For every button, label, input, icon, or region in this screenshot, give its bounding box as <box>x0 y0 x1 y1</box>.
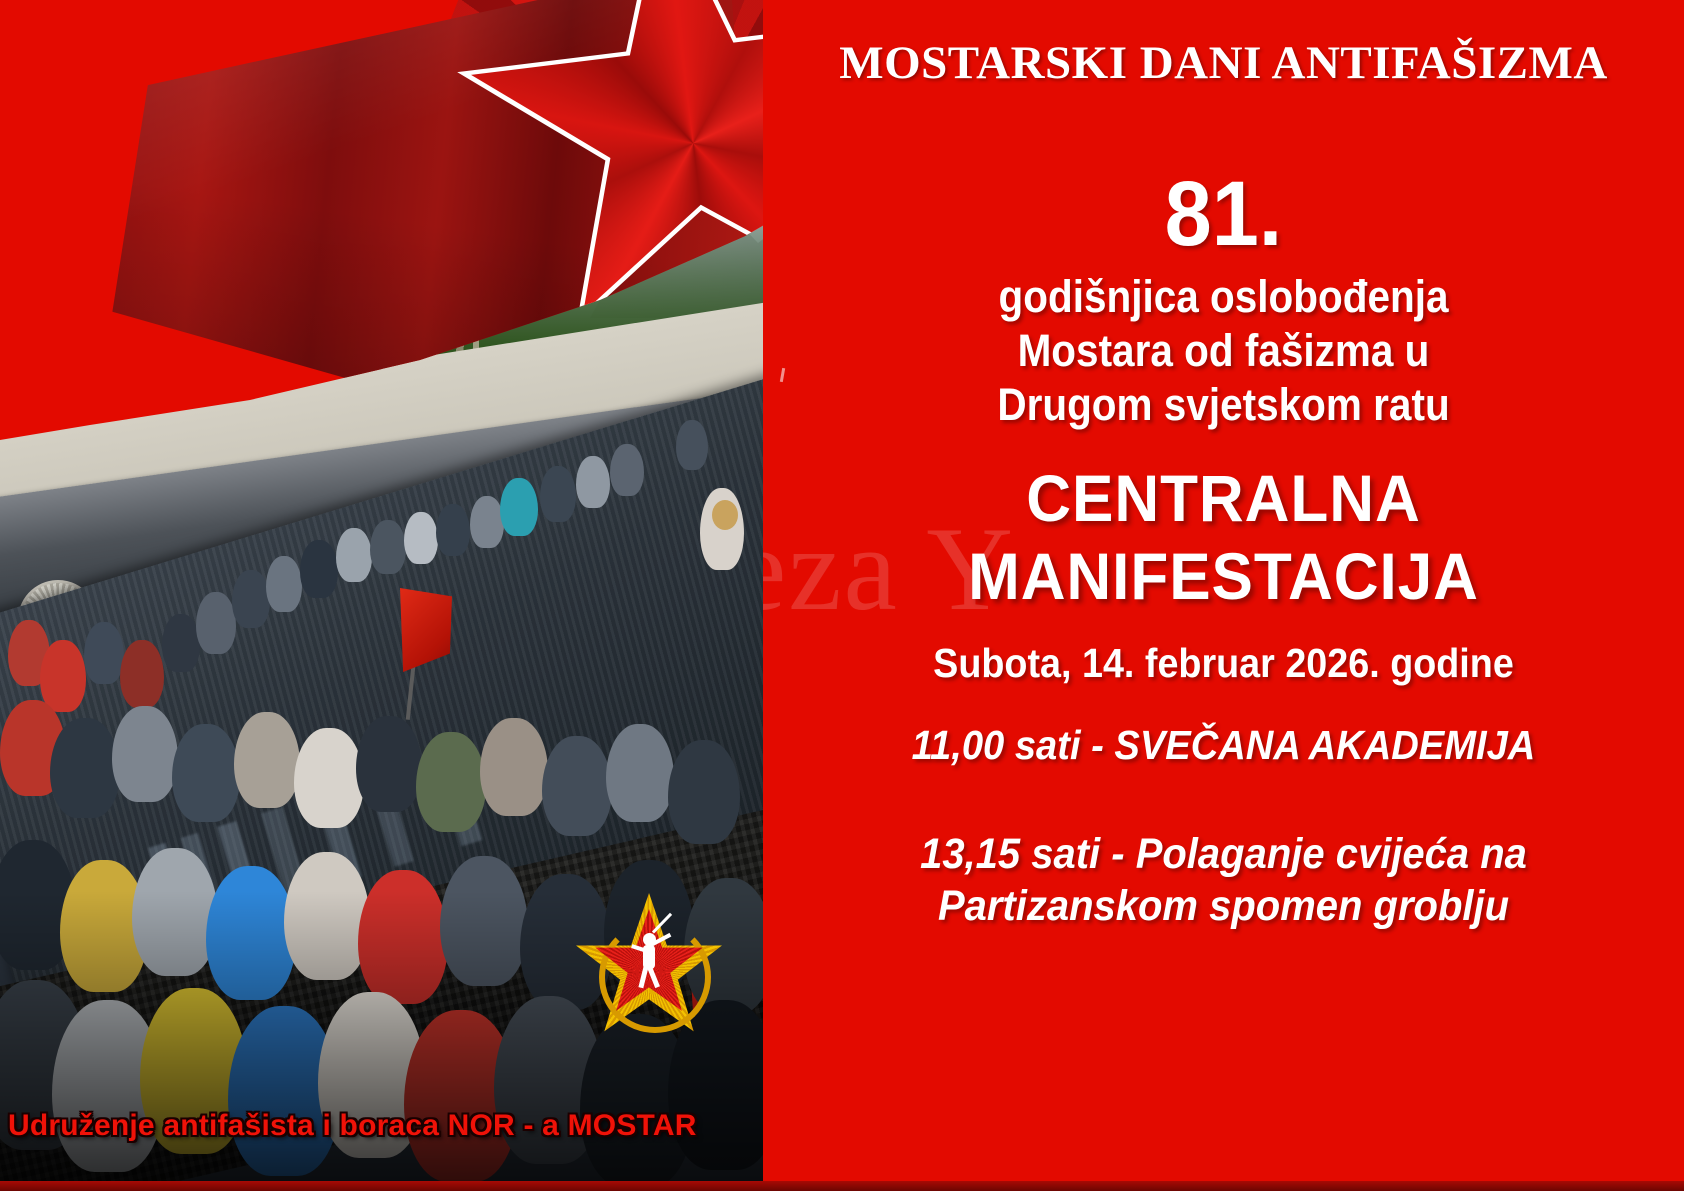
event-headline: CENTRALNA MANIFESTACIJA <box>791 460 1657 616</box>
program-item-2-line-2: Partizanskom spomen groblju <box>795 880 1652 932</box>
emblem-partisan-figure <box>629 933 673 991</box>
stray-mark <box>780 368 785 382</box>
event-date: Subota, 14. februar 2026. godine <box>800 640 1647 687</box>
program-item-2: 13,15 sati - Polaganje cvijeća na Partiz… <box>795 828 1652 933</box>
subtitle-line-1: godišnjica oslobođenja <box>809 270 1638 324</box>
page-title: MOSTARSKI DANI ANTIFAŠIZMA <box>763 36 1684 90</box>
poster-root: Udruženje antifašista i boraca NOR - a M… <box>0 0 1684 1191</box>
subtitle-line-3: Drugom svjetskom ratu <box>809 378 1638 432</box>
bottom-edge-strip <box>0 1181 1684 1191</box>
program-item-1: 11,00 sati - SVEČANA AKADEMIJA <box>795 722 1652 769</box>
headline-line-1: CENTRALNA <box>791 460 1657 538</box>
program-item-2-line-1: 13,15 sati - Polaganje cvijeća na <box>795 828 1652 880</box>
anniversary-subtitle: godišnjica oslobođenja Mostara od fašizm… <box>809 270 1638 432</box>
subtitle-line-2: Mostara od fašizma u <box>809 324 1638 378</box>
anniversary-number: 81. <box>800 168 1647 260</box>
antifascist-emblem-icon <box>573 893 725 1045</box>
text-panel: eza Y MOSTARSKI DANI ANTIFAŠIZMA 81. god… <box>763 0 1684 1191</box>
organizer-caption: Udruženje antifašista i boraca NOR - a M… <box>8 1109 763 1143</box>
headline-line-2: MANIFESTACIJA <box>791 538 1657 616</box>
